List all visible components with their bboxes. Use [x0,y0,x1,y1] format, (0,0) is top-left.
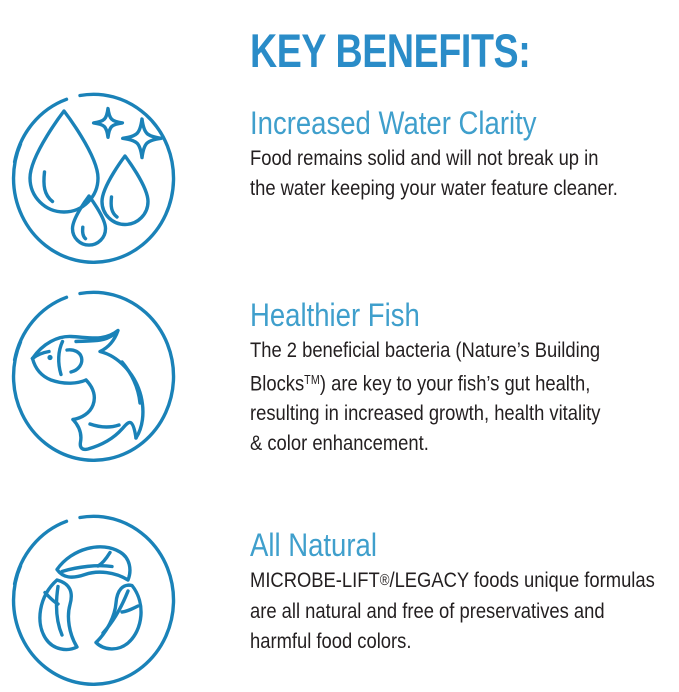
benefit-heading: Increased Water Clarity [250,106,615,140]
body-line: ) are key to your fish’s gut health, [320,371,590,395]
body-line: the water keeping your water feature cle… [250,176,618,200]
body-line: harmful food colors. [250,629,411,653]
benefit-copy: All Natural MICROBE-LIFT®/LEGACY foods u… [250,528,674,656]
body-line: & color enhancement. [250,431,429,455]
fish-icon [10,284,185,462]
body-line: Food remains solid and will not break up… [250,146,598,170]
key-benefits-panel: KEY BENEFITS: Increas [0,0,679,692]
registered-mark: ® [380,572,390,589]
benefit-body: The 2 beneficial bacteria (Nature’s Buil… [250,335,674,458]
body-line-brand: Blocks [250,371,304,395]
benefit-body: MICROBE-LIFT®/LEGACY foods unique formul… [250,565,674,656]
page-title: KEY BENEFITS: [250,23,530,79]
body-line-brand: MICROBE-LIFT [250,568,380,592]
benefit-copy: Increased Water Clarity Food remains sol… [250,106,674,203]
benefit-heading: All Natural [250,528,615,562]
body-line: are all natural and free of preservative… [250,599,605,623]
benefit-copy: Healthier Fish The 2 beneficial bacteria… [250,298,674,458]
benefit-heading: Healthier Fish [250,298,615,332]
body-line: resulting in increased growth, health vi… [250,401,600,425]
trademark-mark: TM [304,373,320,387]
water-drops-sparkle-icon [10,86,185,264]
body-line: /LEGACY foods unique formulas [389,568,654,592]
benefit-body: Food remains solid and will not break up… [250,143,674,203]
recycle-leaves-icon [10,508,185,686]
body-line: The 2 beneficial bacteria (Nature’s Buil… [250,338,600,362]
